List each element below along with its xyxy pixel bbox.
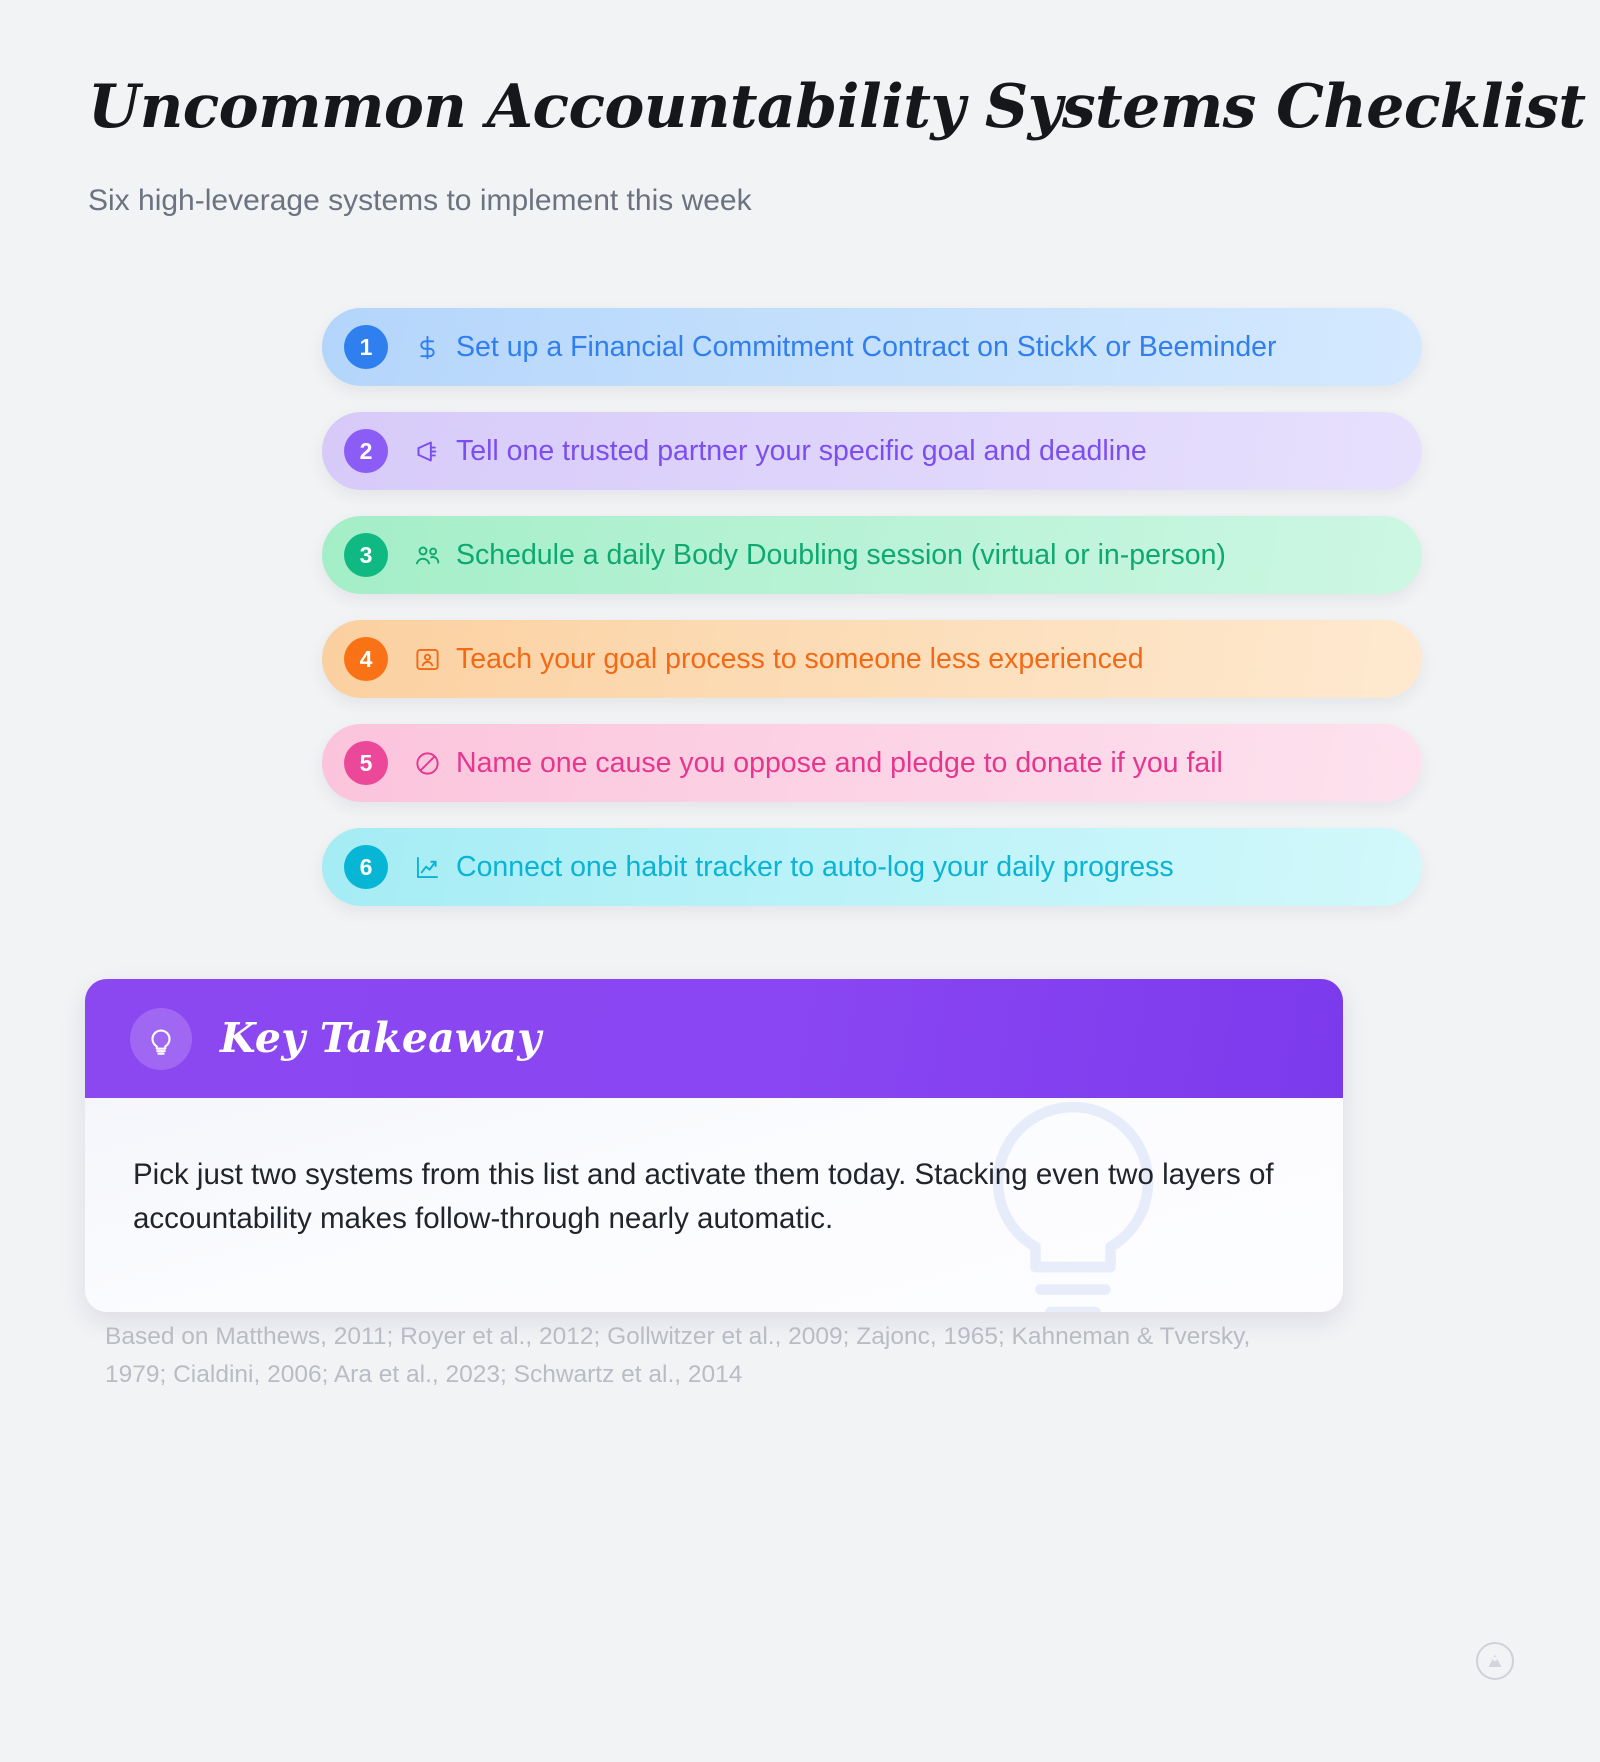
checklist-item-label: Set up a Financial Commitment Contract o… (456, 333, 1277, 362)
infographic-page: Uncommon Accountability Systems Checklis… (0, 0, 1600, 1762)
step-number-badge: 2 (344, 429, 388, 473)
page-subtitle: Six high-leverage systems to implement t… (88, 181, 1508, 220)
lightbulb-icon (130, 1008, 192, 1070)
presentation-person-icon (412, 644, 442, 674)
checklist-item-label: Connect one habit tracker to auto-log yo… (456, 853, 1174, 882)
trending-up-chart-icon (412, 852, 442, 882)
dollar-sign-icon (412, 332, 442, 362)
key-takeaway-body: Pick just two systems from this list and… (85, 1098, 1343, 1312)
checklist-item-label: Tell one trusted partner your specific g… (456, 437, 1147, 466)
checklist-item-label: Teach your goal process to someone less … (456, 645, 1144, 674)
checklist: 1 Set up a Financial Commitment Contract… (322, 308, 1422, 906)
page-header: Uncommon Accountability Systems Checklis… (88, 74, 1508, 220)
step-number-badge: 5 (344, 741, 388, 785)
step-number-badge: 3 (344, 533, 388, 577)
checklist-item-4[interactable]: 4 Teach your goal process to someone les… (322, 620, 1422, 698)
step-number-badge: 1 (344, 325, 388, 369)
checklist-item-6[interactable]: 6 Connect one habit tracker to auto-log … (322, 828, 1422, 906)
key-takeaway-card: Key Takeaway Pick just two systems from … (85, 979, 1343, 1312)
key-takeaway-text: Pick just two systems from this list and… (133, 1153, 1283, 1240)
checklist-item-1[interactable]: 1 Set up a Financial Commitment Contract… (322, 308, 1422, 386)
ban-circle-slash-icon (412, 748, 442, 778)
two-people-icon (412, 540, 442, 570)
megaphone-icon (412, 436, 442, 466)
checklist-item-5[interactable]: 5 Name one cause you oppose and pledge t… (322, 724, 1422, 802)
step-number-badge: 6 (344, 845, 388, 889)
key-takeaway-header: Key Takeaway (85, 979, 1343, 1098)
checklist-item-2[interactable]: 2 Tell one trusted partner your specific… (322, 412, 1422, 490)
checklist-item-3[interactable]: 3 Schedule a daily Body Doubling session… (322, 516, 1422, 594)
step-number-badge: 4 (344, 637, 388, 681)
citation-footer: Based on Matthews, 2011; Royer et al., 2… (105, 1318, 1315, 1394)
page-title: Uncommon Accountability Systems Checklis… (88, 74, 1508, 141)
brand-mark-icon (1476, 1642, 1514, 1680)
key-takeaway-title: Key Takeaway (220, 1018, 541, 1059)
checklist-item-label: Schedule a daily Body Doubling session (… (456, 541, 1226, 570)
checklist-item-label: Name one cause you oppose and pledge to … (456, 749, 1223, 778)
